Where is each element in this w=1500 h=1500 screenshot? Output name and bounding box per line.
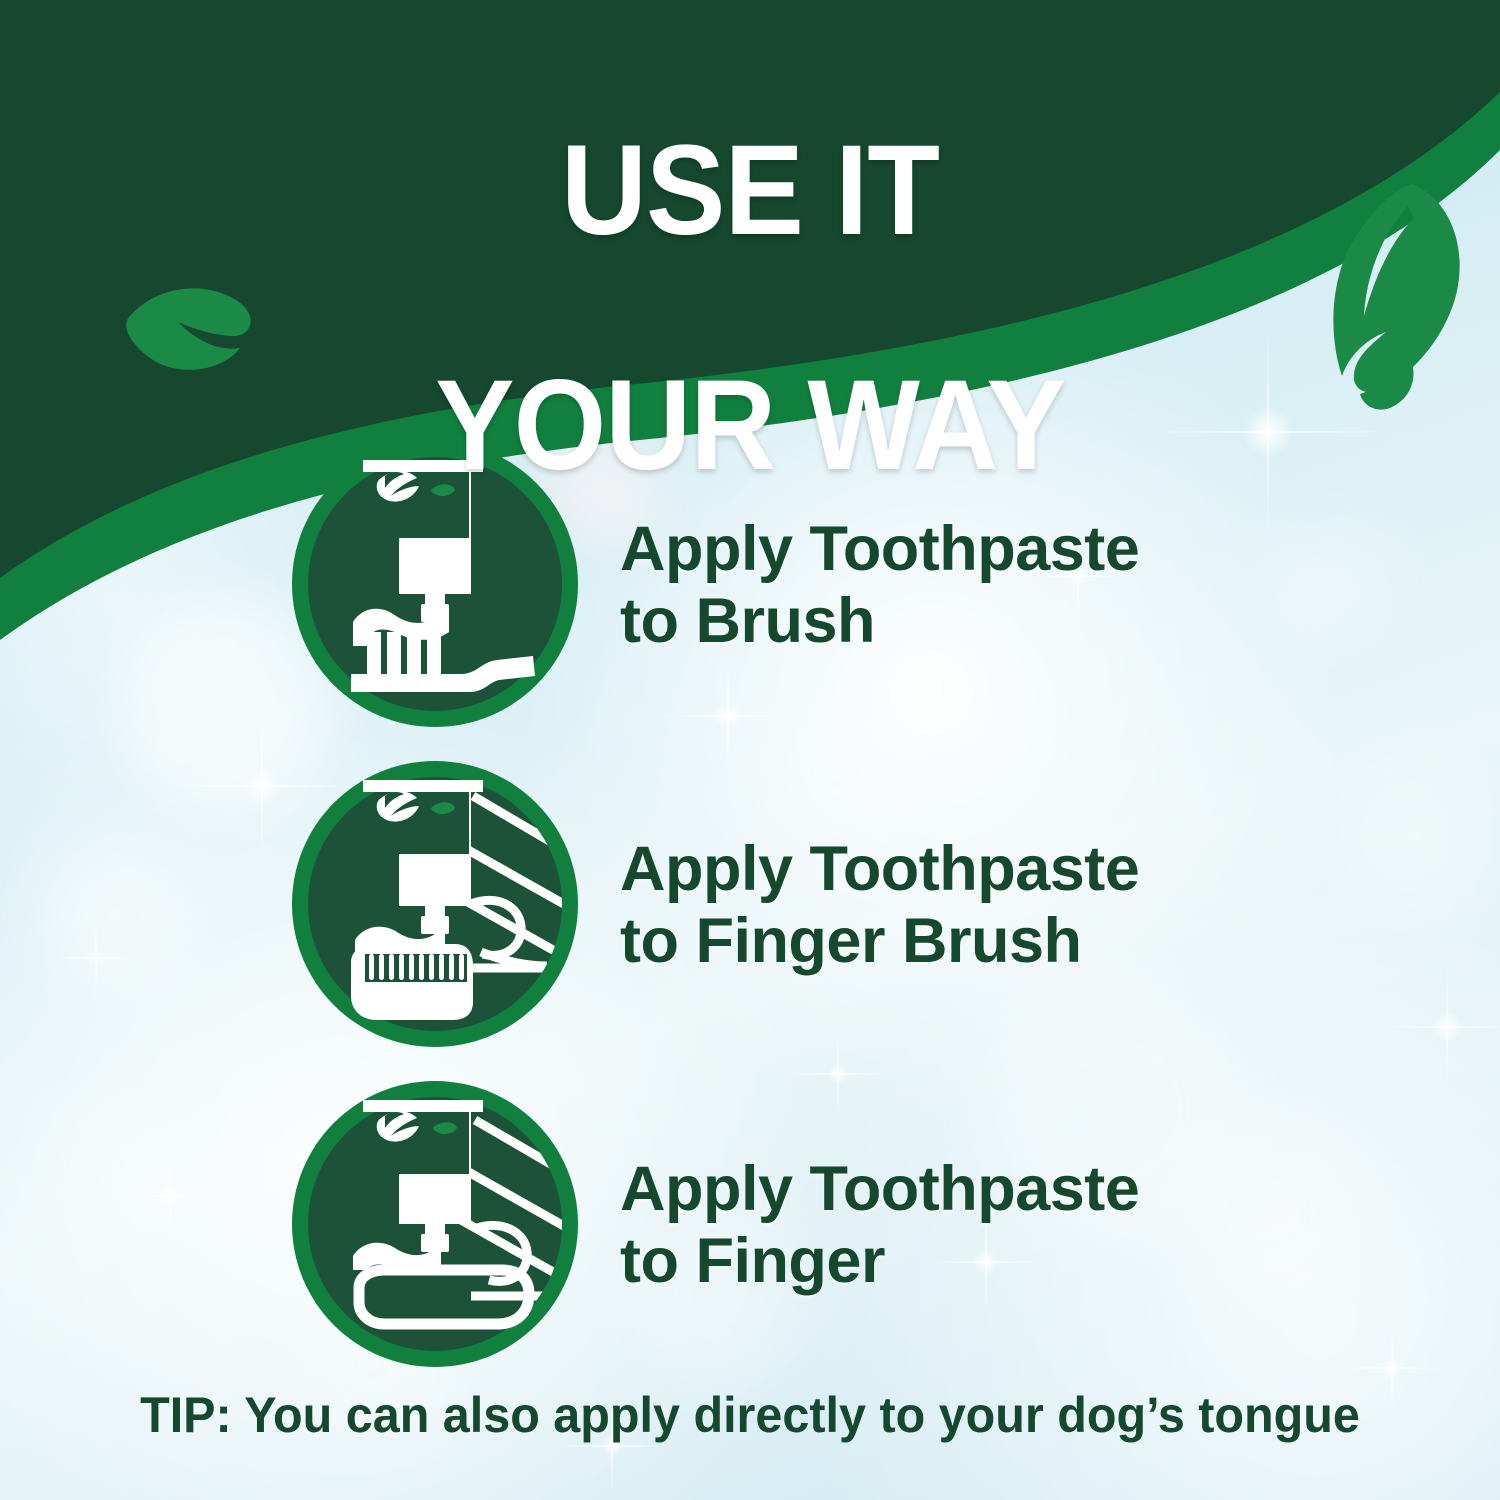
leaf-icon-right (1290, 180, 1490, 412)
poster-root: USE IT YOUR WAY (0, 0, 1500, 1500)
step-label: Apply Toothpaste to Finger (620, 1154, 1139, 1298)
step-icon-wrapper (285, 754, 585, 1059)
title-line-1: USE IT (53, 132, 1448, 250)
step-item: Apply Toothpaste to Finger Brush (0, 756, 1500, 1056)
step-label: Apply Toothpaste to Finger Brush (620, 834, 1139, 978)
page-title: USE IT YOUR WAY (53, 14, 1448, 603)
step-icon-wrapper (285, 1074, 585, 1379)
title-line-2: YOUR WAY (53, 367, 1448, 485)
toothpaste-tube-on-finger-brush-icon (285, 754, 585, 1054)
toothpaste-tube-on-finger-icon (285, 1074, 585, 1374)
step-item: Apply Toothpaste to Finger (0, 1076, 1500, 1376)
